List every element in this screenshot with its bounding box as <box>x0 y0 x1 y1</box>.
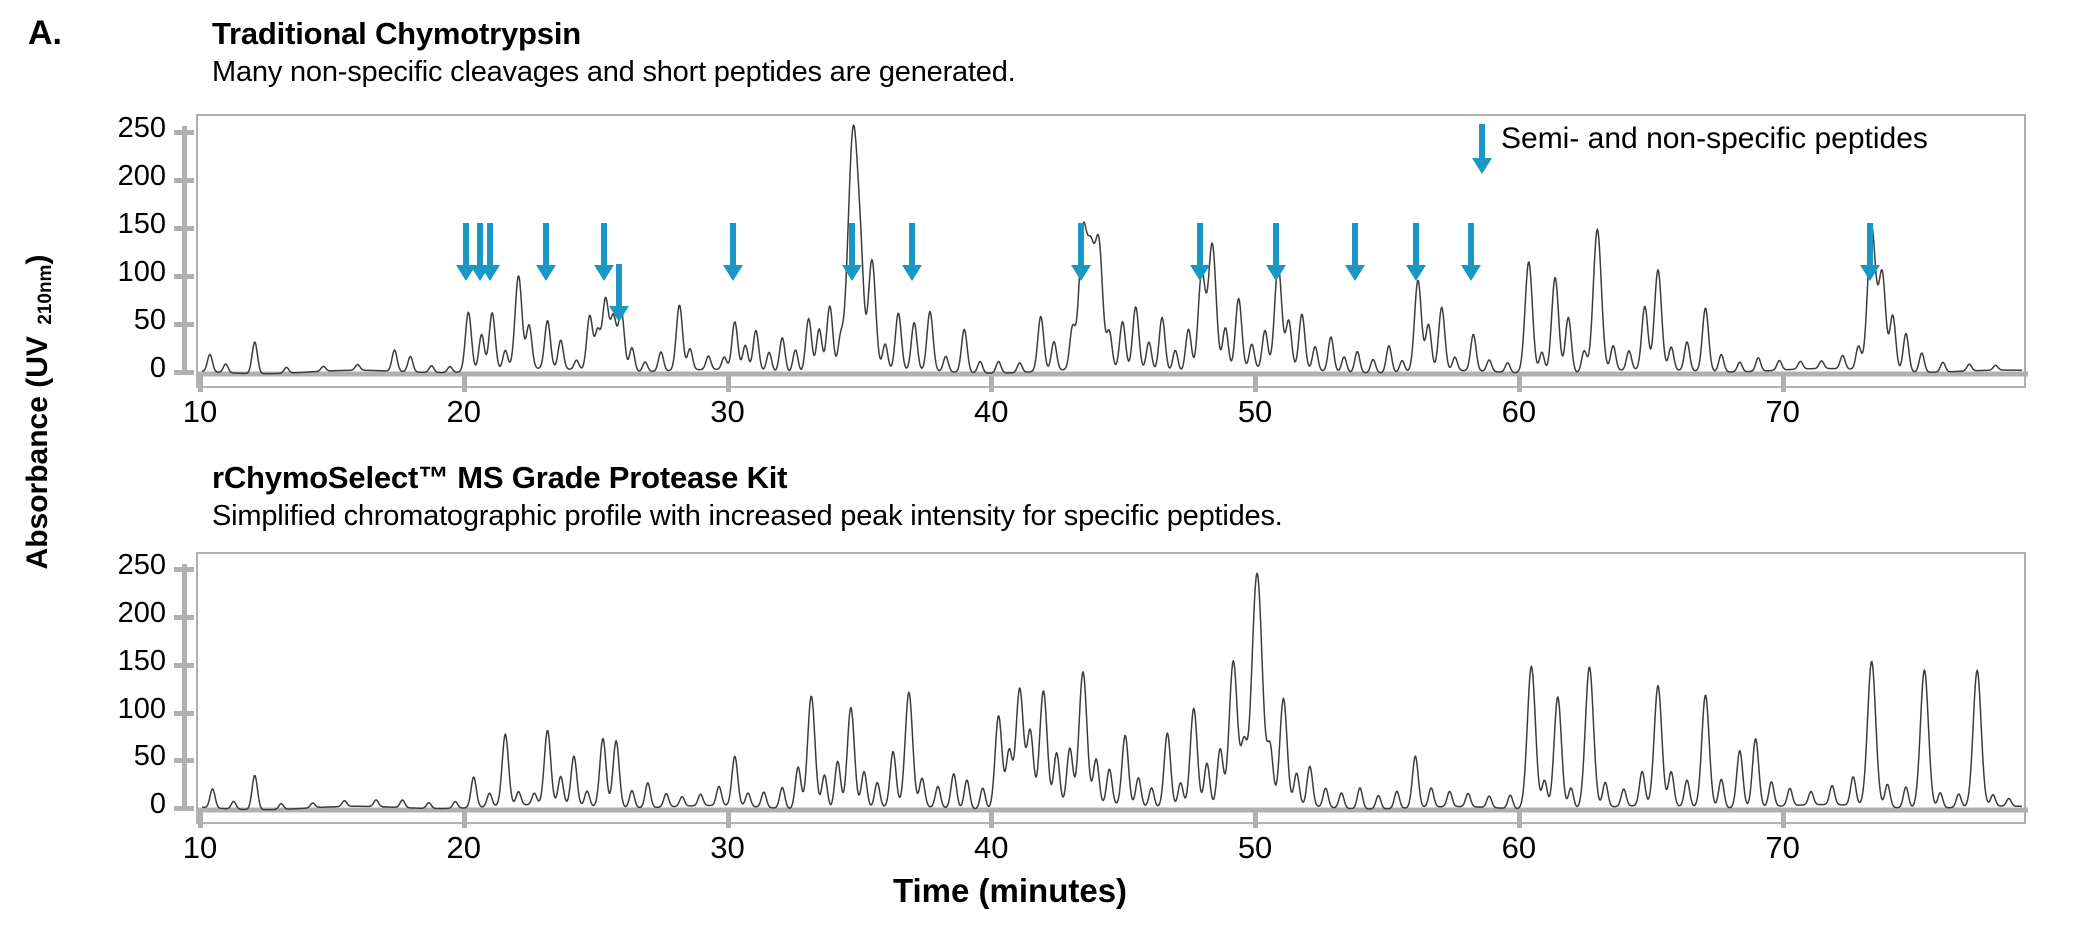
arrow-shaft <box>1468 223 1474 266</box>
panel2-x-tick <box>1253 810 1258 828</box>
panel1-y-tick-label: 50 <box>66 304 166 337</box>
panel1-y-tick-label: 250 <box>66 112 166 145</box>
panel1-x-tick-label: 40 <box>931 394 1051 430</box>
arrow-shaft <box>1078 223 1084 266</box>
arrow-head <box>536 265 556 281</box>
arrow-shaft <box>487 223 493 266</box>
figure-root: A. Absorbance (UV 210nm) Traditional Chy… <box>0 0 2084 938</box>
y-axis-label-wrap: Absorbance (UV 210nm) <box>8 150 54 670</box>
panel1-subtitle: Many non-specific cleavages and short pe… <box>212 56 1016 89</box>
arrow-shaft <box>730 223 736 266</box>
y-axis-label: Absorbance (UV 210nm) <box>21 152 55 672</box>
panel1-y-tick <box>174 130 194 135</box>
panel1-x-tick <box>462 374 467 392</box>
down-arrow-icon <box>479 223 501 281</box>
arrow-head <box>1461 265 1481 281</box>
panel1-x-tick <box>198 374 203 392</box>
panel2-y-tick-label: 50 <box>66 740 166 773</box>
panel2-y-tick <box>174 663 194 668</box>
panel1-x-tick-label: 20 <box>404 394 524 430</box>
arrow-head <box>609 306 629 322</box>
panel1-x-tick-label: 60 <box>1459 394 1579 430</box>
panel2-x-tick-label: 60 <box>1459 830 1579 866</box>
panel1-title: Traditional Chymotrypsin <box>212 16 581 52</box>
arrow-head <box>723 265 743 281</box>
panel2-y-tick <box>174 806 194 811</box>
panel2-x-tick-label: 50 <box>1195 830 1315 866</box>
panel1-y-tick-label: 0 <box>66 352 166 385</box>
arrow-shaft <box>1273 223 1279 266</box>
panel1-x-tick-label: 30 <box>668 394 788 430</box>
panel2-title: rChymoSelect™ MS Grade Protease Kit <box>212 460 787 496</box>
panel1-legend-note: Semi- and non-specific peptides <box>1501 122 1928 156</box>
arrow-head <box>1071 265 1091 281</box>
y-axis-label-subscript: 210nm <box>35 265 56 328</box>
arrow-head <box>1266 265 1286 281</box>
down-arrow-icon <box>535 223 557 281</box>
panel1-x-tick-label: 50 <box>1195 394 1315 430</box>
arrow-head <box>842 265 862 281</box>
panel2-x-tick <box>1517 810 1522 828</box>
panel1-x-tick <box>1517 374 1522 392</box>
down-arrow-icon <box>901 223 923 281</box>
panel2-x-tick <box>198 810 203 828</box>
panel1-x-tick <box>726 374 731 392</box>
panel2-y-tick-label: 0 <box>66 788 166 821</box>
panel2-y-tick-label: 100 <box>66 693 166 726</box>
arrow-shaft <box>616 264 622 307</box>
down-arrow-icon <box>841 223 863 281</box>
panel2-x-tick-label: 70 <box>1723 830 1843 866</box>
panel2-x-tick-label: 10 <box>140 830 260 866</box>
arrow-head <box>1345 265 1365 281</box>
panel2-x-tick <box>989 810 994 828</box>
arrow-shaft <box>1197 223 1203 266</box>
down-arrow-icon <box>1070 223 1092 281</box>
arrow-head <box>1860 265 1880 281</box>
down-arrow-icon <box>1189 223 1211 281</box>
panel1-x-tick-label: 10 <box>140 394 260 430</box>
panel2-y-tick <box>174 567 194 572</box>
panel2-y-tick <box>174 615 194 620</box>
arrow-head <box>1472 158 1492 174</box>
arrow-head <box>480 265 500 281</box>
panel2-y-tick-label: 150 <box>66 645 166 678</box>
legend-down-arrow-icon <box>1471 124 1493 174</box>
panel1-y-tick <box>174 370 194 375</box>
down-arrow-icon <box>1859 223 1881 281</box>
arrow-head <box>1406 265 1426 281</box>
panel1-x-tick <box>1253 374 1258 392</box>
arrow-shaft <box>1867 223 1873 266</box>
arrow-head <box>902 265 922 281</box>
panel1-y-tick <box>174 274 194 279</box>
arrow-shaft <box>543 223 549 266</box>
down-arrow-icon <box>608 264 630 322</box>
panel2-chromatogram-trace <box>198 554 2028 826</box>
panel2-y-tick <box>174 758 194 763</box>
panel2-x-tick <box>1781 810 1786 828</box>
panel2-x-tick-label: 30 <box>668 830 788 866</box>
panel1-y-tick-label: 100 <box>66 256 166 289</box>
y-axis-label-main: Absorbance (UV <box>21 328 54 570</box>
panel1-y-tick-label: 150 <box>66 208 166 241</box>
arrow-shaft <box>1413 223 1419 266</box>
arrow-shaft <box>909 223 915 266</box>
arrow-shaft <box>1352 223 1358 266</box>
down-arrow-icon <box>1405 223 1427 281</box>
panel2-x-tick-label: 40 <box>931 830 1051 866</box>
panel1-y-axis-spine <box>182 126 187 374</box>
down-arrow-icon <box>1265 223 1287 281</box>
panel1-x-tick <box>989 374 994 392</box>
arrow-shaft <box>601 223 607 266</box>
arrow-shaft <box>1479 124 1485 159</box>
panel2-y-tick-label: 200 <box>66 597 166 630</box>
panel2-y-axis-spine <box>182 564 187 810</box>
panel1-y-tick <box>174 178 194 183</box>
panel1-x-tick-label: 70 <box>1723 394 1843 430</box>
down-arrow-icon <box>1344 223 1366 281</box>
panel2-y-tick <box>174 711 194 716</box>
panel2-x-tick-label: 20 <box>404 830 524 866</box>
panel1-y-tick-label: 200 <box>66 160 166 193</box>
panel1-y-tick <box>174 322 194 327</box>
panel2-plot-area <box>196 552 2026 824</box>
panel1-y-tick <box>174 226 194 231</box>
panel2-x-tick <box>726 810 731 828</box>
arrow-head <box>1190 265 1210 281</box>
arrow-shaft <box>849 223 855 266</box>
panel2-subtitle: Simplified chromatographic profile with … <box>212 500 1283 533</box>
panel2-x-tick <box>462 810 467 828</box>
y-axis-label-close: ) <box>21 255 54 265</box>
panel-letter: A. <box>28 14 62 53</box>
panel1-x-tick <box>1781 374 1786 392</box>
down-arrow-icon <box>1460 223 1482 281</box>
down-arrow-icon <box>722 223 744 281</box>
x-axis-title: Time (minutes) <box>830 872 1190 910</box>
panel2-y-tick-label: 250 <box>66 549 166 582</box>
